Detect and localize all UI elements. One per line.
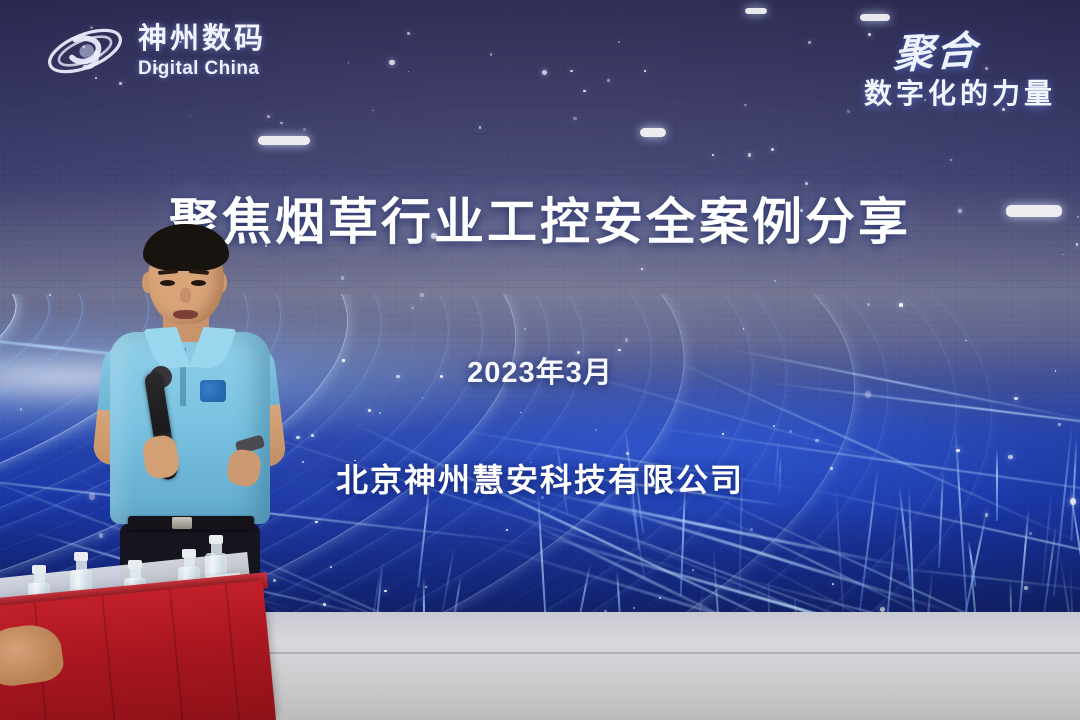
event-calligraphy: 聚合 bbox=[892, 18, 979, 80]
digital-china-logo: 神州数码 Digital China bbox=[44, 20, 266, 82]
logo-name-en: Digital China bbox=[138, 59, 266, 78]
speaker-shirt-badge bbox=[200, 380, 226, 402]
light-reflection bbox=[640, 128, 666, 137]
speaker-nose bbox=[180, 288, 191, 303]
speaker-belt-buckle bbox=[172, 517, 192, 529]
digital-china-swirl-icon bbox=[44, 20, 126, 82]
speaker-mouth bbox=[173, 310, 198, 319]
speaker-eye-left bbox=[160, 280, 175, 286]
speaker-hair bbox=[143, 224, 229, 271]
speaker-eye-right bbox=[191, 280, 206, 286]
logo-name-cn: 神州数码 bbox=[138, 25, 266, 54]
speaker-polo-shirt bbox=[110, 332, 270, 524]
light-reflection bbox=[745, 8, 767, 14]
event-logo: 聚合 数字化的力量 bbox=[864, 20, 1056, 112]
light-reflection bbox=[258, 136, 310, 145]
screenshot-root: 神州数码 Digital China 聚合 数字化的力量 聚焦烟草行业工控安全案… bbox=[0, 0, 1080, 720]
